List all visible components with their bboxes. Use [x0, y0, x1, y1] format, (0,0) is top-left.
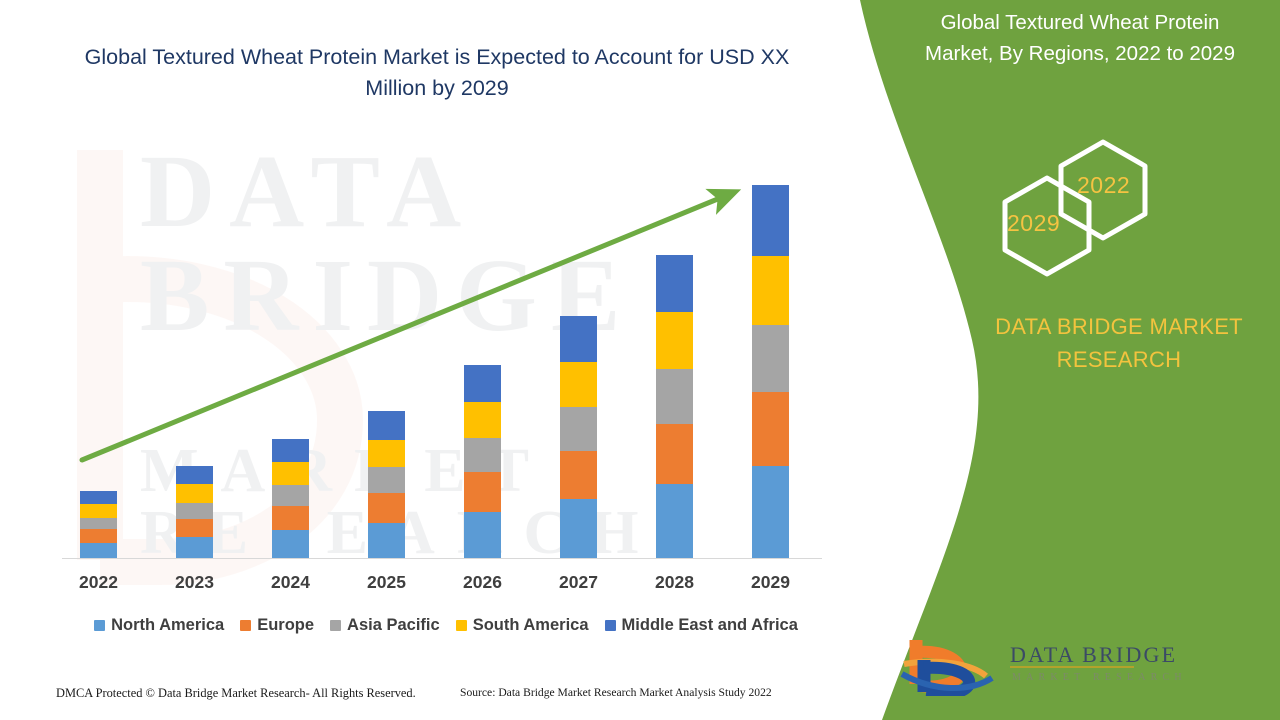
legend-label: North America [111, 616, 224, 635]
bar-segment [80, 518, 117, 530]
x-axis-label-2027: 2027 [539, 572, 619, 593]
legend-swatch-icon [456, 620, 467, 631]
bar-2028 [656, 255, 693, 558]
bar-segment [80, 529, 117, 542]
bar-segment [656, 255, 693, 313]
legend-item-middle-east-and-africa[interactable]: Middle East and Africa [605, 616, 798, 635]
legend-label: Middle East and Africa [622, 616, 798, 635]
logo-wordmark: DATA BRIDGE [1010, 642, 1177, 668]
green-panel-title: Global Textured Wheat Protein Market, By… [888, 8, 1272, 70]
bar-segment [272, 462, 309, 485]
x-axis-label-2023: 2023 [155, 572, 235, 593]
logo-subtext: MARKET RESEARCH [1012, 672, 1187, 683]
bar-segment [752, 392, 789, 466]
bar-segment [80, 491, 117, 504]
bar-segment [368, 467, 405, 493]
axis-baseline [62, 558, 822, 559]
hexagon-badges: 2022 2029 [985, 130, 1185, 280]
footer-copyright: DMCA Protected © Data Bridge Market Rese… [56, 686, 416, 701]
bar-segment [176, 503, 213, 519]
growth-arrow-icon [0, 0, 860, 600]
green-panel-title-line1: Global Textured Wheat Protein [941, 11, 1220, 34]
bar-2029 [752, 185, 789, 558]
bar-segment [752, 466, 789, 558]
hexagon-outlines-icon [985, 130, 1185, 280]
x-axis-label-2026: 2026 [443, 572, 523, 593]
bar-segment [176, 484, 213, 502]
bar-segment [656, 484, 693, 558]
x-axis-label-2029: 2029 [731, 572, 811, 593]
bar-segment [176, 537, 213, 558]
brand-name: DATA BRIDGE MARKET RESEARCH [960, 310, 1278, 376]
x-axis-label-2025: 2025 [347, 572, 427, 593]
bar-segment [560, 407, 597, 451]
bar-segment [752, 185, 789, 256]
legend-label: South America [473, 616, 589, 635]
bar-segment [80, 504, 117, 517]
bar-2024 [272, 439, 309, 558]
legend-swatch-icon [330, 620, 341, 631]
bar-segment [464, 438, 501, 472]
bar-2023 [176, 466, 213, 558]
bar-segment [752, 256, 789, 325]
legend-item-south-america[interactable]: South America [456, 616, 589, 635]
bar-segment [560, 451, 597, 500]
bar-segment [560, 362, 597, 407]
bar-segment [176, 519, 213, 537]
legend-swatch-icon [94, 620, 105, 631]
bar-segment [656, 312, 693, 369]
bar-segment [464, 472, 501, 511]
bar-segment [464, 365, 501, 402]
bar-segment [464, 402, 501, 438]
legend-item-north-america[interactable]: North America [94, 616, 224, 635]
bar-segment [368, 493, 405, 523]
bar-segment [272, 506, 309, 530]
brand-line2: RESEARCH [1057, 347, 1182, 372]
legend-label: Asia Pacific [347, 616, 440, 635]
bar-segment [272, 439, 309, 462]
chart-legend: North AmericaEuropeAsia PacificSouth Ame… [56, 616, 836, 635]
bar-2026 [464, 365, 501, 558]
x-axis-label-2024: 2024 [251, 572, 331, 593]
bar-segment [656, 424, 693, 484]
bar-2025 [368, 411, 405, 558]
bar-segment [176, 466, 213, 484]
infographic-canvas: DATA BRIDGE MARKET RESEARCH Global Textu… [0, 0, 1280, 720]
bar-segment [272, 530, 309, 558]
stacked-bar-chart: 20222023202420252026202720282029 [0, 0, 860, 720]
legend-swatch-icon [240, 620, 251, 631]
hex-badge-2022: 2022 [1077, 172, 1130, 199]
bar-segment [80, 543, 117, 558]
x-axis-label-2022: 2022 [59, 572, 139, 593]
bar-segment [656, 369, 693, 423]
bar-2027 [560, 316, 597, 558]
bar-segment [368, 523, 405, 558]
legend-label: Europe [257, 616, 314, 635]
bar-segment [752, 325, 789, 392]
bar-segment [560, 316, 597, 362]
legend-swatch-icon [605, 620, 616, 631]
footer-source: Source: Data Bridge Market Research Mark… [460, 686, 772, 699]
legend-item-europe[interactable]: Europe [240, 616, 314, 635]
bar-segment [368, 411, 405, 439]
legend-item-asia-pacific[interactable]: Asia Pacific [330, 616, 440, 635]
hex-badge-2029: 2029 [1007, 210, 1060, 237]
x-axis-label-2028: 2028 [635, 572, 715, 593]
bar-2022 [80, 491, 117, 558]
green-panel-title-line2: Market, By Regions, 2022 to 2029 [925, 42, 1235, 65]
brand-line1: DATA BRIDGE MARKET [995, 314, 1243, 339]
bar-segment [560, 499, 597, 558]
bar-segment [464, 512, 501, 558]
bar-segment [272, 485, 309, 506]
bar-segment [368, 440, 405, 467]
